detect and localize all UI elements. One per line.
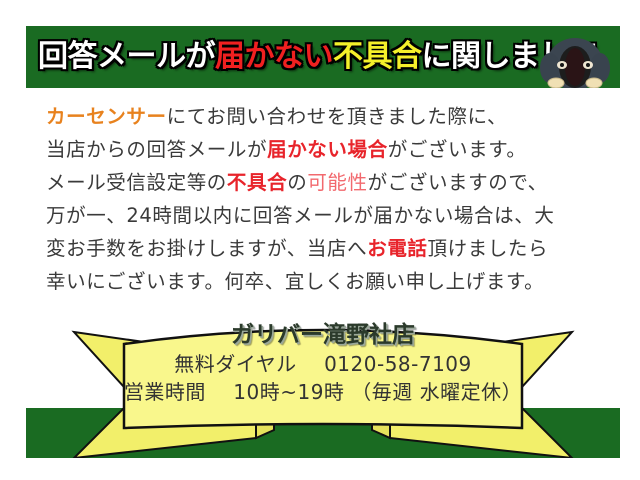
phone-label: 無料ダイヤル	[174, 352, 296, 376]
shop-name: ガリバー滝野社店	[100, 320, 546, 350]
body-line-3-run-2: 不具合	[227, 171, 287, 194]
body-line-2-run-2: 届かない場合	[267, 138, 388, 161]
gorilla-mascot-icon	[538, 34, 612, 88]
title-segment-2: 届かない	[215, 42, 333, 72]
title-segment-1: 回答メールが	[38, 42, 215, 72]
body-line-2: 当店からの回答メールが届かない場合がございます。	[46, 133, 612, 166]
body-line-1-run-2: にてお問い合わせを頂きました際に、	[167, 105, 508, 128]
body-line-3-run-3: の	[287, 171, 307, 194]
body-line-2-run-1: 当店からの回答メールが	[46, 138, 267, 161]
body-line-6: 幸いにございます。何卒、宜しくお願い申し上げます。	[46, 265, 612, 298]
closed-note: （毎週 水曜定休）	[351, 380, 522, 404]
notice-page: 回答メールが届かない不具合に関しまして カーセンサーにてお問い合わせを頂きました…	[0, 0, 640, 480]
ribbon-text-block: ガリバー滝野社店 無料ダイヤル 0120-58-7109 営業時間 10時~19…	[100, 320, 546, 406]
body-line-3-run-5: がございますので、	[368, 171, 548, 194]
body-line-1-run-1: カーセンサー	[46, 105, 167, 128]
body-line-3: メール受信設定等の不具合の可能性がございますので、	[46, 166, 612, 199]
body-line-5: 変お手数をお掛けしますが、当店へお電話頂けましたら	[46, 232, 612, 265]
hours-label: 営業時間	[124, 380, 206, 404]
body-line-5-run-3: 頂けましたら	[428, 237, 549, 260]
hours-line: 営業時間 10時~19時 （毎週 水曜定休）	[100, 378, 546, 406]
phone-line: 無料ダイヤル 0120-58-7109	[100, 350, 546, 378]
title-segment-3: 不具合	[333, 42, 422, 72]
header-banner: 回答メールが届かない不具合に関しまして	[26, 26, 620, 88]
body-line-5-run-1: 変お手数をお掛けしますが、当店へ	[46, 237, 367, 260]
body-line-4-run-1: 万が一、24時間以内に回答メールが届かない場合は、大	[46, 204, 554, 227]
notice-body: カーセンサーにてお問い合わせを頂きました際に、 当店からの回答メールが届かない場…	[46, 100, 612, 298]
hours-value: 10時~19時	[233, 380, 344, 404]
body-line-2-run-3: がございます。	[388, 138, 527, 161]
page-title: 回答メールが届かない不具合に関しまして	[38, 42, 598, 72]
phone-number: 0120-58-7109	[324, 352, 472, 376]
body-line-3-run-1: メール受信設定等の	[46, 171, 227, 194]
body-line-4: 万が一、24時間以内に回答メールが届かない場合は、大	[46, 199, 612, 232]
body-line-6-run-1: 幸いにございます。何卒、宜しくお願い申し上げます。	[46, 270, 544, 293]
body-line-5-run-2: お電話	[367, 237, 427, 260]
body-line-3-run-4: 可能性	[307, 171, 367, 194]
body-line-1: カーセンサーにてお問い合わせを頂きました際に、	[46, 100, 612, 133]
